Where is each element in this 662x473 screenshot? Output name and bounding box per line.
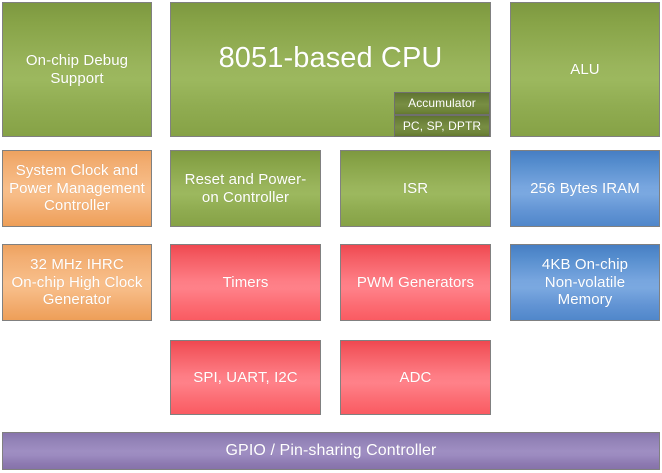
block-4kb-non-volatile-memory[interactable]: 4KB On-chip Non-volatile Memory [510, 244, 660, 321]
block-label-debug-support: On-chip Debug Support [26, 52, 128, 87]
block-label-pc-sp-dptr: PC, SP, DPTR [403, 119, 481, 133]
block-isr[interactable]: ISR [340, 150, 491, 227]
block-label-isr: ISR [403, 180, 428, 198]
block-label-ihrc: 32 MHz IHRC On-chip High Clock Generator [11, 256, 142, 309]
block-label-alu: ALU [570, 61, 599, 79]
block-label-reset-power-on: Reset and Power- on Controller [185, 171, 307, 206]
block-spi-uart-i2c[interactable]: SPI, UART, I2C [170, 340, 321, 415]
block-label-nvm: 4KB On-chip Non-volatile Memory [542, 256, 628, 309]
block-diagram-canvas: On-chip Debug Support 8051-based CPU Acc… [0, 0, 662, 473]
block-alu[interactable]: ALU [510, 2, 660, 137]
block-32mhz-ihrc-clock-generator[interactable]: 32 MHz IHRC On-chip High Clock Generator [2, 244, 152, 321]
block-system-clock-power-management-controller[interactable]: System Clock and Power Management Contro… [2, 150, 152, 227]
block-reset-and-power-on-controller[interactable]: Reset and Power- on Controller [170, 150, 321, 227]
block-label-iram: 256 Bytes IRAM [530, 180, 640, 198]
block-label-system-clock: System Clock and Power Management Contro… [9, 162, 145, 215]
block-label-gpio: GPIO / Pin-sharing Controller [226, 442, 437, 461]
block-adc[interactable]: ADC [340, 340, 491, 415]
block-label-serial: SPI, UART, I2C [193, 369, 298, 387]
block-label-timers: Timers [223, 274, 269, 292]
block-on-chip-debug-support[interactable]: On-chip Debug Support [2, 2, 152, 137]
block-pc-sp-dptr[interactable]: PC, SP, DPTR [394, 115, 490, 137]
block-label-pwm: PWM Generators [357, 274, 474, 292]
block-pwm-generators[interactable]: PWM Generators [340, 244, 491, 321]
block-label-accumulator: Accumulator [408, 96, 476, 110]
block-gpio-pin-sharing-controller[interactable]: GPIO / Pin-sharing Controller [2, 432, 660, 470]
block-accumulator[interactable]: Accumulator [394, 92, 490, 115]
block-label-cpu: 8051-based CPU [219, 41, 443, 75]
block-256-bytes-iram[interactable]: 256 Bytes IRAM [510, 150, 660, 227]
block-timers[interactable]: Timers [170, 244, 321, 321]
block-label-adc: ADC [400, 369, 432, 387]
